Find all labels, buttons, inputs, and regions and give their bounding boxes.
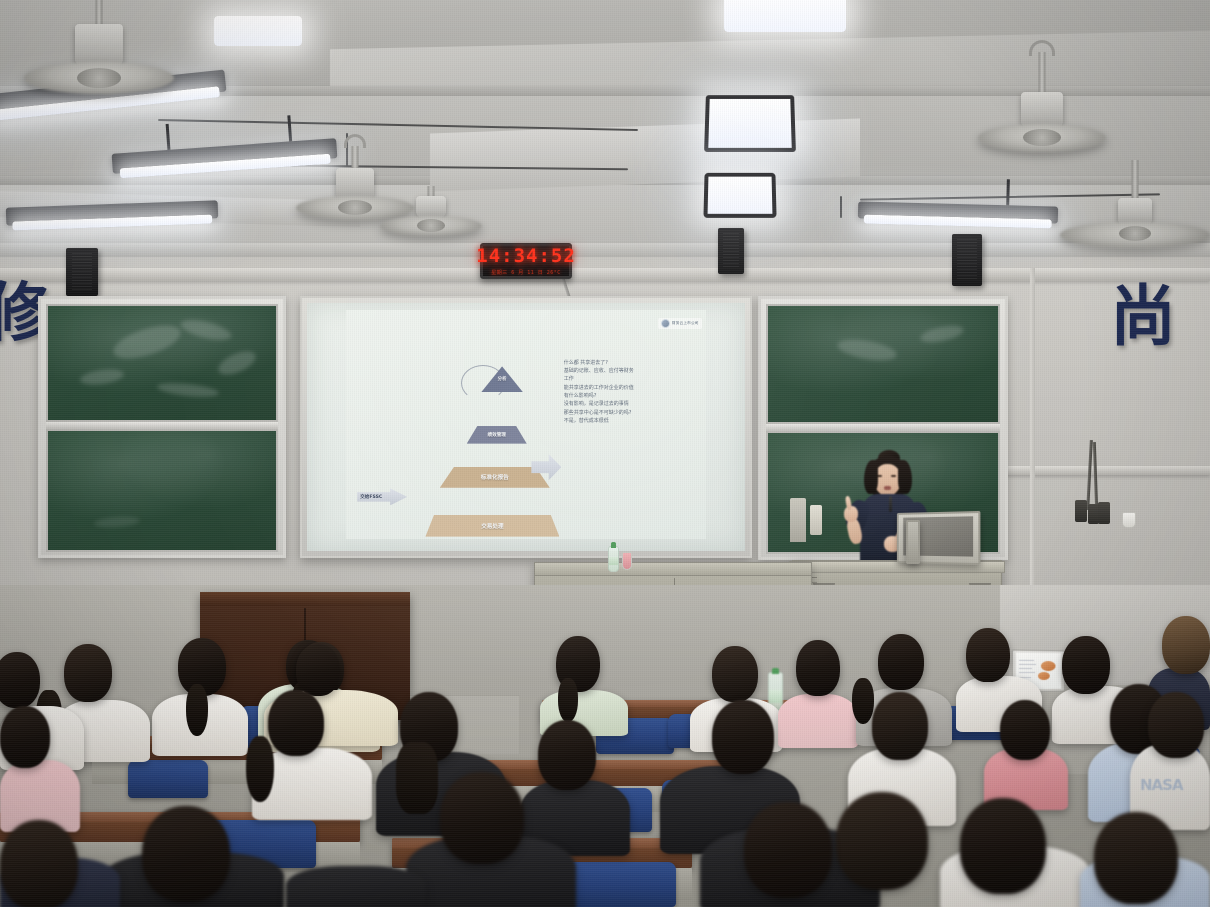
ceiling-fan-right-2 <box>1060 160 1210 254</box>
student-head-b7 <box>296 644 340 696</box>
chair-back-8 <box>566 862 676 907</box>
ceiling-fan-mid-2 <box>380 186 482 256</box>
student-head-m7 <box>1000 700 1050 760</box>
slide-bullet-4: 有什么影响吗? <box>564 394 634 400</box>
lecturer-face <box>874 464 901 496</box>
student-ponytail-b6 <box>558 678 578 722</box>
slide-logo-text: 财务云上市公司 <box>672 321 699 326</box>
student-ponytail-m1 <box>246 736 274 802</box>
slide-logo: 财务云上市公司 <box>658 318 702 329</box>
wall-top-ledge <box>0 268 1210 281</box>
panel-light-3 <box>703 173 776 218</box>
wall-character-right: 尚 <box>1110 284 1176 350</box>
slide-bullet-7: 不是，替代成本很低 <box>564 419 634 425</box>
screen-canvas: 财务云上市公司 分析 绩效管理 标准化报告 交易处理 数据采集与录入 交给FSS… <box>307 303 745 551</box>
student-head-m3 <box>0 706 50 768</box>
student-ponytail-b3 <box>186 684 208 736</box>
student-head-f2 <box>836 792 928 890</box>
slide: 财务云上市公司 分析 绩效管理 标准化报告 交易处理 数据采集与录入 交给FSS… <box>346 310 705 538</box>
lectern-riser <box>790 498 806 542</box>
student-head-f5 <box>1094 812 1178 904</box>
slide-bullet-list: 什么都 共享进去了? 基础的记账、应收、应付等财务 工作 能共享进去的工作对企业… <box>564 361 634 425</box>
clock-time: 14:34:52 <box>476 247 576 266</box>
student-head-f3 <box>744 802 832 898</box>
lectern-keyboard-tray <box>906 520 920 564</box>
slide-bullet-5: 没有影响，是记录过去的事情 <box>564 402 634 408</box>
blackboard-left-divider <box>46 422 278 429</box>
student-head-f6 <box>142 806 230 902</box>
left-speaker <box>66 248 98 296</box>
student-hair-m2 <box>396 742 438 814</box>
student-head-m6 <box>1148 692 1204 758</box>
ceiling-beam-3 <box>0 243 1210 257</box>
pink-cup-ledge <box>622 552 632 570</box>
pyramid-layer-4: 交易处理 <box>425 515 559 537</box>
projector-screen: 财务云上市公司 分析 绩效管理 标准化报告 交易处理 数据采集与录入 交给FSS… <box>300 296 752 558</box>
wall-side-ledge <box>1005 466 1210 475</box>
right-speaker <box>952 234 982 286</box>
white-cup-ledge <box>1122 512 1136 528</box>
blackboard-left-lower <box>46 429 278 552</box>
student-head-f7 <box>0 820 78 907</box>
ceiling-fan-right <box>978 50 1106 174</box>
panel-light-4 <box>214 16 302 46</box>
lapel-mic <box>889 496 892 512</box>
student-head-m4 <box>712 700 774 774</box>
mop-head-3 <box>1098 502 1110 524</box>
wall-pilaster <box>1030 268 1035 608</box>
slide-bullet-2: 工作 <box>564 377 634 383</box>
clock-sub-label: 星期三 6 月 11 日 26°C <box>491 269 561 276</box>
lecturer-hair-side-left <box>864 460 878 494</box>
slide-bullet-0: 什么都 共享进去了? <box>564 361 634 367</box>
panel-light-1 <box>724 0 846 32</box>
student-head-f1 <box>440 772 524 864</box>
ceiling-fan-left <box>24 0 174 134</box>
student-head-b12 <box>1162 616 1210 674</box>
student-head-m9 <box>538 720 596 790</box>
student-head-b11 <box>1062 636 1110 694</box>
student-head-b8 <box>712 646 758 702</box>
center-speaker <box>718 228 744 274</box>
circle-logo-icon <box>661 319 670 328</box>
water-bottle-ledge <box>608 546 619 572</box>
lecturer-hair-side-right <box>898 460 912 494</box>
student-torso-f8 <box>286 866 426 907</box>
student-head-b9 <box>796 640 840 696</box>
fssc-arrow: 交给FSSC <box>357 488 407 505</box>
slide-bullet-1: 基础的记账、应收、应付等财务 <box>564 369 634 375</box>
lectern-paper-cup <box>810 505 822 535</box>
pyramid-layer-2: 绩效管理 <box>467 426 527 444</box>
student-head-m8 <box>872 692 928 760</box>
student-head-b10 <box>878 634 924 690</box>
student-head-b4 <box>64 644 112 702</box>
student-ponytail-b10 <box>852 678 874 724</box>
student-head-m1 <box>268 690 324 756</box>
blackboard-right-upper <box>766 304 1000 424</box>
classroom-scene: 修 尚 14:34:52 星期三 6 月 11 日 26°C <box>0 0 1210 907</box>
chair-back-6 <box>128 760 208 798</box>
slide-bullet-6: 那些共享中心是不可缺少的吗? <box>564 411 634 417</box>
student-head-b5 <box>0 652 40 708</box>
fssc-arrow-label: 交给FSSC <box>357 494 382 500</box>
student-head-b13 <box>966 628 1010 682</box>
blackboard-right-divider <box>766 424 1000 431</box>
led-wall-clock: 14:34:52 星期三 6 月 11 日 26°C <box>480 243 572 279</box>
student-shirt-text: NASA <box>1140 776 1183 794</box>
ceiling-wire-5 <box>840 196 842 218</box>
blackboard-left-upper <box>46 304 278 422</box>
student-torso-b9 <box>778 694 858 748</box>
lecturer-mouth <box>884 486 891 490</box>
lecturer-eye-right <box>891 475 896 477</box>
mop-head-1 <box>1075 500 1087 522</box>
panel-light-2 <box>704 95 796 152</box>
cabinet-top <box>535 563 811 576</box>
slide-bullet-3: 能共享进去的工作对企业的价值 <box>564 386 634 392</box>
student-head-f4 <box>960 798 1046 894</box>
blackboard-left <box>38 296 286 558</box>
